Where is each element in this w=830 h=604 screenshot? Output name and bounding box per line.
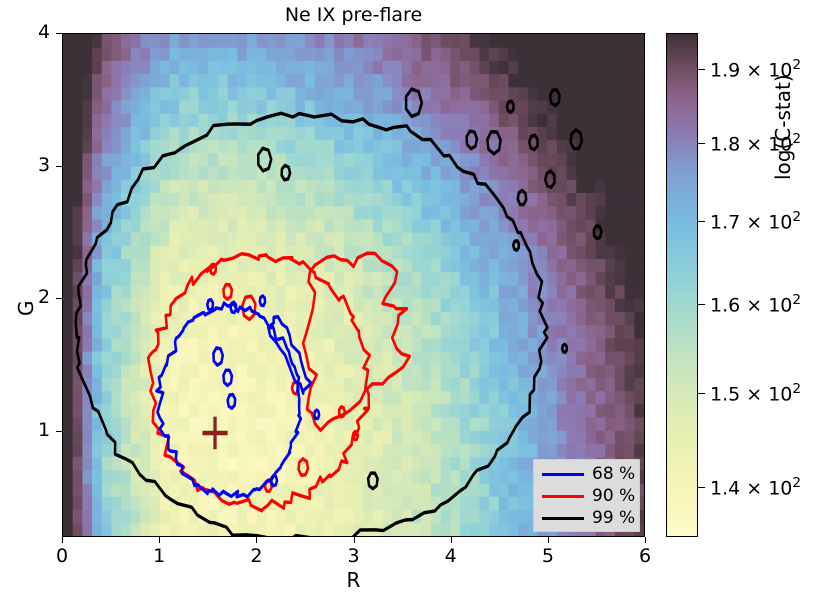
y-tick-label: 1 <box>38 419 50 441</box>
x-tick-label: 1 <box>153 545 165 567</box>
x-tick-mark <box>451 537 452 543</box>
y-tick-label: 3 <box>38 154 50 176</box>
colorbar-tick-mark <box>698 221 705 222</box>
colorbar-tick-mark <box>698 304 705 305</box>
x-tick-label: 4 <box>445 545 457 567</box>
x-tick-label: 3 <box>348 545 360 567</box>
x-tick-mark <box>159 537 160 543</box>
y-tick-mark <box>56 298 62 299</box>
colorbar-tick-mark <box>698 69 705 70</box>
y-tick-label: 2 <box>38 286 50 308</box>
x-tick-mark <box>645 537 646 543</box>
colorbar-tick-mark <box>698 393 705 394</box>
legend-swatch-99 <box>542 517 584 520</box>
x-tick-label: 5 <box>542 545 554 567</box>
legend-item: 68 % <box>534 463 639 485</box>
x-tick-mark <box>256 537 257 543</box>
x-tick-label: 6 <box>639 545 651 567</box>
colorbar-tick-mark <box>698 487 705 488</box>
page-title: Ne IX pre-flare <box>62 4 645 26</box>
figure-canvas: Ne IX pre-flare G R log(C-stat) 68 % 90 … <box>0 0 830 604</box>
legend-label-99: 99 % <box>592 507 635 529</box>
y-axis-label: G <box>14 301 38 317</box>
x-tick-mark <box>548 537 549 543</box>
y-tick-mark <box>56 166 62 167</box>
x-tick-label: 0 <box>56 545 68 567</box>
colorbar-tick-label: 1.9 × 102 <box>710 57 801 81</box>
legend: 68 % 90 % 99 % <box>533 459 640 532</box>
legend-label-68: 68 % <box>592 463 635 485</box>
x-tick-mark <box>62 537 63 543</box>
legend-item: 99 % <box>534 507 639 529</box>
legend-item: 90 % <box>534 485 639 507</box>
best-fit-marker <box>202 417 227 450</box>
colorbar <box>666 33 698 537</box>
legend-swatch-68 <box>542 473 584 476</box>
colorbar-tick-label: 1.8 × 102 <box>710 131 801 155</box>
colorbar-tick-label: 1.4 × 102 <box>710 475 801 499</box>
colorbar-tick-label: 1.6 × 102 <box>710 292 801 316</box>
x-axis-label: R <box>62 568 645 592</box>
y-tick-label: 4 <box>38 21 50 43</box>
legend-label-90: 90 % <box>592 485 635 507</box>
colorbar-label: log(C-stat) <box>771 74 795 180</box>
x-tick-mark <box>354 537 355 543</box>
x-tick-label: 2 <box>250 545 262 567</box>
y-tick-mark <box>56 33 62 34</box>
colorbar-tick-label: 1.5 × 102 <box>710 381 801 405</box>
y-tick-mark <box>56 431 62 432</box>
colorbar-tick-mark <box>698 143 705 144</box>
colorbar-tick-label: 1.7 × 102 <box>710 209 801 233</box>
legend-swatch-90 <box>542 495 584 498</box>
